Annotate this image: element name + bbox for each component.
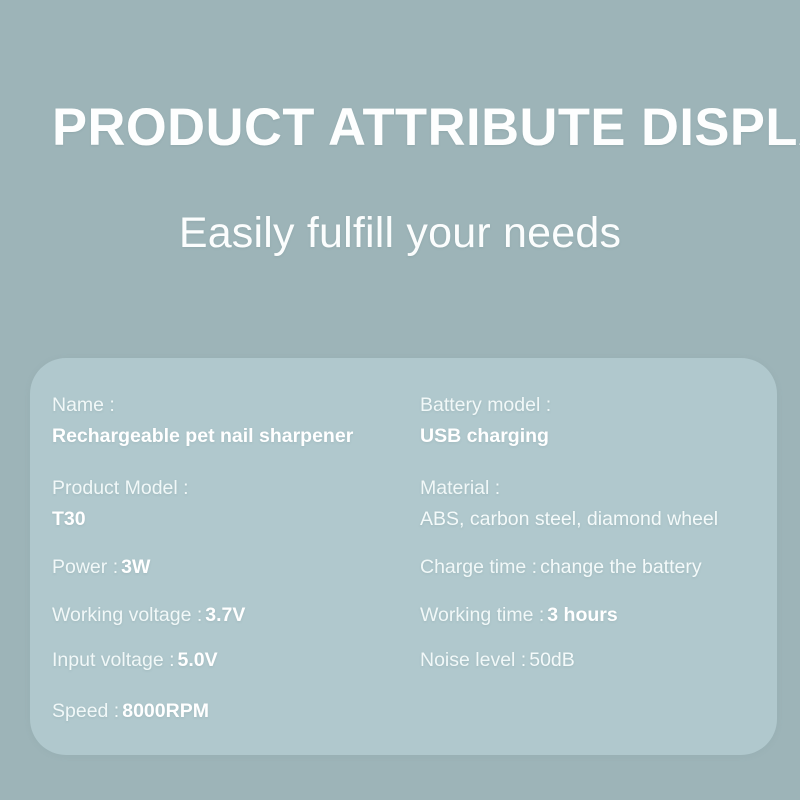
- spec-row-speed: Speed :8000RPM: [52, 702, 209, 722]
- spec-row-battery-model: Battery model : USB charging: [420, 396, 551, 446]
- spec-value-power: 3W: [121, 556, 150, 578]
- spec-row-product-model: Product Model : T30: [52, 479, 189, 529]
- spec-label-working-voltage: Working voltage :: [52, 604, 202, 626]
- spec-label-power: Power :: [52, 556, 118, 578]
- spec-row-charge-time: Charge time :change the battery: [420, 558, 702, 578]
- spec-value-working-time: 3 hours: [547, 604, 617, 626]
- spec-label-speed: Speed :: [52, 700, 119, 722]
- spec-value-product-model: T30: [52, 510, 189, 530]
- spec-row-working-voltage: Working voltage :3.7V: [52, 606, 245, 626]
- spec-row-noise-level: Noise level :50dB: [420, 651, 575, 671]
- spec-value-battery-model: USB charging: [420, 427, 551, 447]
- spec-value-name: Rechargeable pet nail sharpener: [52, 427, 353, 447]
- spec-label-noise-level: Noise level :: [420, 649, 526, 671]
- spec-row-power: Power :3W: [52, 558, 150, 578]
- spec-row-material: Material : ABS, carbon steel, diamond wh…: [420, 479, 718, 529]
- spec-value-working-voltage: 3.7V: [205, 604, 245, 626]
- spec-value-material: ABS, carbon steel, diamond wheel: [420, 510, 718, 530]
- spec-label-charge-time: Charge time :: [420, 556, 537, 578]
- spec-label-working-time: Working time :: [420, 604, 544, 626]
- specification-columns: Name : Rechargeable pet nail sharpener P…: [30, 358, 777, 755]
- spec-row-working-time: Working time :3 hours: [420, 606, 618, 626]
- spec-label-product-model: Product Model :: [52, 479, 189, 499]
- spec-label-material: Material :: [420, 479, 718, 499]
- spec-row-input-voltage: Input voltage :5.0V: [52, 651, 218, 671]
- spec-value-input-voltage: 5.0V: [178, 649, 218, 671]
- spec-label-battery-model: Battery model :: [420, 396, 551, 416]
- spec-value-speed: 8000RPM: [122, 700, 209, 722]
- spec-value-noise-level: 50dB: [529, 649, 575, 671]
- page-title: PRODUCT ATTRIBUTE DISPLAY: [52, 101, 765, 154]
- spec-value-charge-time: change the battery: [540, 556, 702, 578]
- spec-label-name: Name :: [52, 396, 353, 416]
- page-subtitle: Easily fulfill your needs: [0, 212, 800, 255]
- spec-row-name: Name : Rechargeable pet nail sharpener: [52, 396, 353, 446]
- specification-card: Name : Rechargeable pet nail sharpener P…: [30, 358, 777, 755]
- spec-label-input-voltage: Input voltage :: [52, 649, 175, 671]
